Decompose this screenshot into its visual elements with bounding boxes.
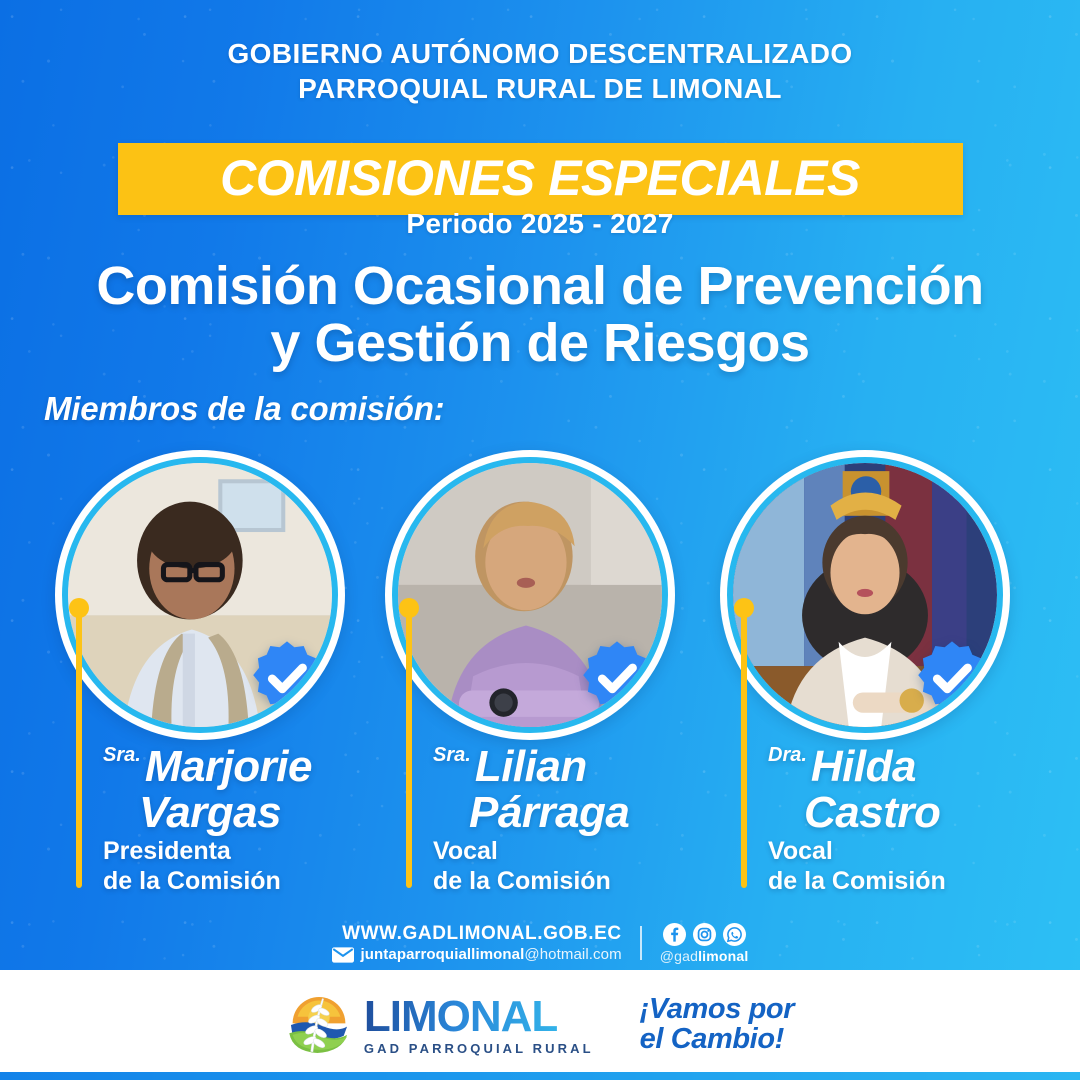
- member-first-name: Hilda: [811, 742, 916, 791]
- facebook-icon[interactable]: [663, 923, 686, 946]
- member-prefix: Dra.: [768, 744, 807, 766]
- members-label: Miembros de la comisión:: [44, 390, 444, 428]
- member-last-name: Castro: [804, 791, 1053, 835]
- contact-divider: [640, 926, 642, 960]
- page-title-line1: Comisión Ocasional de Prevención: [0, 258, 1080, 315]
- pin-line: [741, 610, 747, 888]
- verified-badge-icon: [248, 639, 326, 717]
- member-first-name: Lilian: [475, 742, 587, 791]
- comisiones-banner: COMISIONES ESPECIALES: [118, 143, 963, 215]
- verified-badge-icon: [913, 639, 991, 717]
- member-role-line2: de la Comisión: [103, 866, 388, 896]
- whatsapp-icon[interactable]: [723, 923, 746, 946]
- member-photo-ring: [720, 450, 1010, 740]
- envelope-icon: [332, 947, 354, 963]
- slogan-line1: ¡Vamos por: [640, 995, 794, 1025]
- social-handle: @gadlimonal: [660, 948, 749, 964]
- member-role: Vocal de la Comisión: [768, 836, 1053, 896]
- brand-subtitle: GAD PARROQUIAL RURAL: [364, 1042, 594, 1055]
- page-title-line2: y Gestión de Riesgos: [0, 315, 1080, 372]
- member-pin-marker: [734, 598, 754, 888]
- contact-info: WWW.GADLIMONAL.GOB.EC juntaparroquiallim…: [332, 923, 622, 964]
- page-title: Comisión Ocasional de Prevención y Gesti…: [0, 258, 1080, 372]
- member-last-name: Vargas: [139, 791, 388, 835]
- member-card: Dra.Hilda Castro Vocal de la Comisión: [710, 450, 1050, 920]
- footer-accent-strip: [0, 1072, 1080, 1080]
- member-role-line2: de la Comisión: [433, 866, 718, 896]
- email-text: juntaparroquiallimonal@hotmail.com: [361, 946, 622, 963]
- member-pin-marker: [69, 598, 89, 888]
- instagram-icon[interactable]: [693, 923, 716, 946]
- member-photo-ring-inner: [392, 457, 668, 733]
- member-name: Sra.Marjorie Vargas: [103, 745, 388, 835]
- member-prefix: Sra.: [433, 744, 471, 766]
- member-card: Sra.Marjorie Vargas Presidenta de la Com…: [45, 450, 385, 920]
- brand-name: LIMONAL: [364, 995, 594, 1039]
- member-role-line1: Presidenta: [103, 836, 388, 866]
- poster-canvas: GOBIERNO AUTÓNOMO DESCENTRALIZADO PARROQ…: [0, 0, 1080, 1080]
- website-link[interactable]: WWW.GADLIMONAL.GOB.EC: [332, 923, 622, 945]
- member-card: Sra.Lilian Párraga Vocal de la Comisión: [375, 450, 715, 920]
- member-photo-ring-inner: [62, 457, 338, 733]
- member-photo-ring: [55, 450, 345, 740]
- slogan: ¡Vamos por el Cambio!: [640, 995, 794, 1054]
- member-pin-marker: [399, 598, 419, 888]
- footer-bar: LIMONAL GAD PARROQUIAL RURAL ¡Vamos por …: [0, 970, 1080, 1080]
- email-row[interactable]: juntaparroquiallimonal@hotmail.com: [332, 946, 622, 963]
- member-first-name: Marjorie: [145, 742, 312, 791]
- verified-badge-icon: [578, 639, 656, 717]
- member-prefix: Sra.: [103, 744, 141, 766]
- social-icons: [660, 923, 749, 946]
- banner-container: COMISIONES ESPECIALES: [0, 143, 1080, 215]
- member-role-line1: Vocal: [768, 836, 1053, 866]
- brand-text: LIMONAL GAD PARROQUIAL RURAL: [364, 995, 594, 1055]
- member-role-line1: Vocal: [433, 836, 718, 866]
- organization-title: GOBIERNO AUTÓNOMO DESCENTRALIZADO PARROQ…: [0, 36, 1080, 107]
- banner-word-comisiones: COMISIONES: [220, 150, 534, 206]
- banner-text: COMISIONES ESPECIALES: [152, 153, 929, 203]
- contact-strip: WWW.GADLIMONAL.GOB.EC juntaparroquiallim…: [0, 918, 1080, 968]
- org-title-line2: PARROQUIAL RURAL DE LIMONAL: [0, 71, 1080, 106]
- member-photo-ring: [385, 450, 675, 740]
- member-photo-ring-inner: [727, 457, 1003, 733]
- member-name: Dra.Hilda Castro: [768, 745, 1053, 835]
- member-role-line2: de la Comisión: [768, 866, 1053, 896]
- member-role: Vocal de la Comisión: [433, 836, 718, 896]
- pin-line: [76, 610, 82, 888]
- limonal-emblem-icon: [286, 995, 352, 1055]
- member-name: Sra.Lilian Párraga: [433, 745, 718, 835]
- banner-word-especiales: ESPECIALES: [548, 150, 860, 206]
- handle-prefix: @gad: [660, 948, 698, 964]
- brand-logo: LIMONAL GAD PARROQUIAL RURAL: [286, 995, 594, 1055]
- org-title-line1: GOBIERNO AUTÓNOMO DESCENTRALIZADO: [0, 36, 1080, 71]
- pin-line: [406, 610, 412, 888]
- slogan-line2: el Cambio!: [640, 1025, 794, 1055]
- email-user: juntaparroquiallimonal: [361, 946, 525, 963]
- member-last-name: Párraga: [469, 791, 718, 835]
- period-label: Periodo 2025 - 2027: [0, 208, 1080, 240]
- member-role: Presidenta de la Comisión: [103, 836, 388, 896]
- email-domain: @hotmail.com: [524, 946, 621, 963]
- handle-suffix: limonal: [698, 948, 748, 964]
- social-block: @gadlimonal: [660, 923, 749, 964]
- members-list: Sra.Marjorie Vargas Presidenta de la Com…: [0, 450, 1080, 920]
